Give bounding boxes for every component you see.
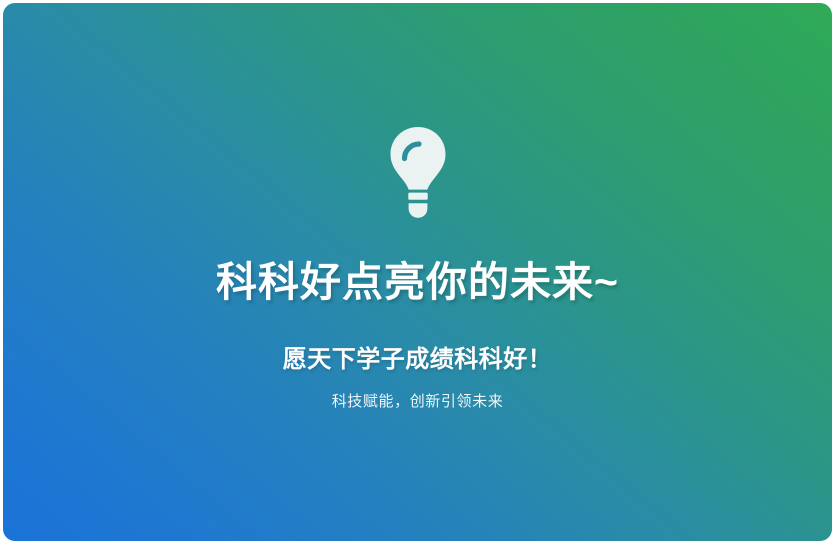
hero-subtitle: 愿天下学子成绩科科好！	[283, 347, 553, 373]
promo-hero-card: 科科好点亮你的未来~ 愿天下学子成绩科科好！ 科技赋能，创新引领未来	[3, 3, 832, 541]
page-title: 科科好点亮你的未来~	[216, 261, 619, 304]
hero-tagline: 科技赋能，创新引领未来	[332, 393, 504, 411]
lightbulb-icon	[388, 125, 448, 221]
